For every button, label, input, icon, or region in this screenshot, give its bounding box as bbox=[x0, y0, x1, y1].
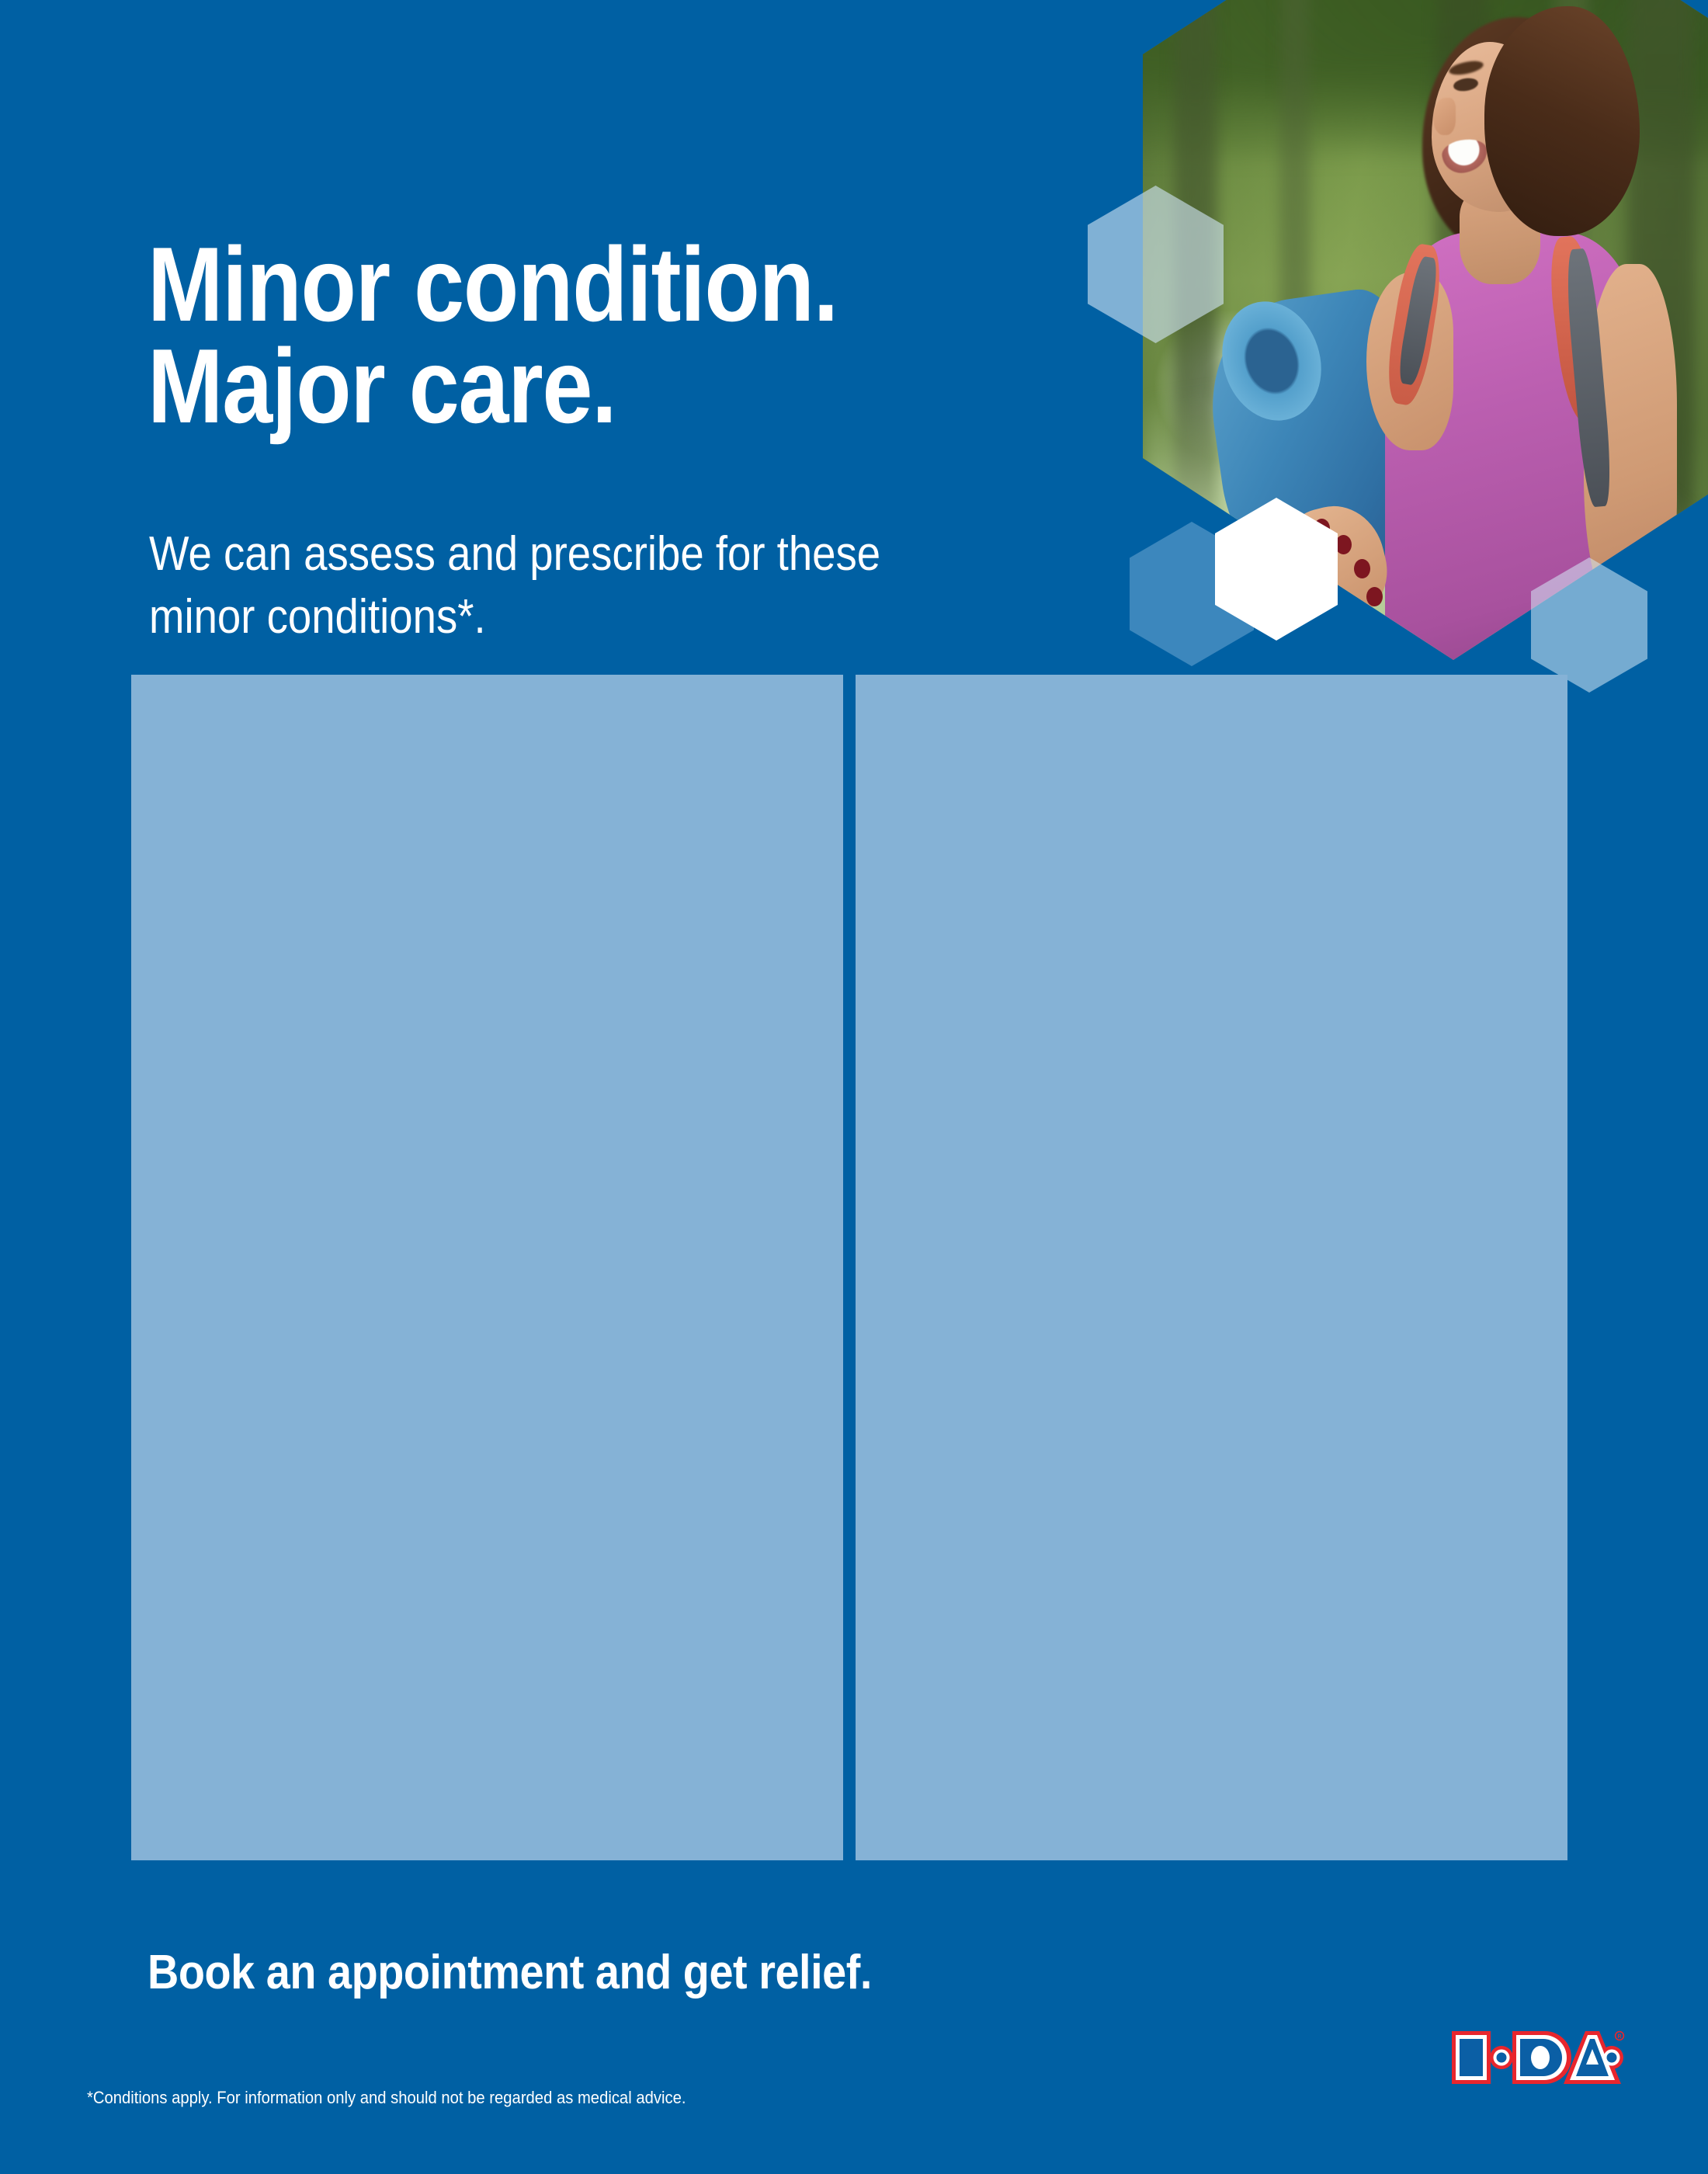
fingernail bbox=[1366, 587, 1383, 606]
subheading-line-1: We can assess and prescribe for these bbox=[149, 523, 1010, 586]
ida-logo: R bbox=[1446, 2023, 1626, 2092]
cta-text: Book an appointment and get relief. bbox=[148, 1945, 872, 2000]
subheading-line-2: minor conditions*. bbox=[149, 586, 1010, 649]
conditions-list-left-panel bbox=[131, 675, 843, 1860]
conditions-panels bbox=[131, 675, 1567, 1860]
svg-text:R: R bbox=[1617, 2034, 1621, 2040]
woman-hair-front bbox=[1484, 6, 1640, 236]
woman-nose bbox=[1433, 98, 1456, 135]
subheading: We can assess and prescribe for these mi… bbox=[149, 523, 1010, 648]
registered-trademark-icon: R bbox=[1616, 2032, 1624, 2040]
headline-line-1: Minor condition. bbox=[148, 234, 975, 335]
headline-line-2: Major care. bbox=[148, 335, 975, 437]
footnote-disclaimer: *Conditions apply. For information only … bbox=[87, 2088, 686, 2108]
poster-canvas: Minor condition. Major care. We can asse… bbox=[0, 0, 1708, 2174]
fingernail bbox=[1335, 535, 1352, 554]
conditions-list-right-panel bbox=[856, 675, 1567, 1860]
page-title: Minor condition. Major care. bbox=[148, 234, 975, 436]
fingernail bbox=[1354, 559, 1370, 578]
